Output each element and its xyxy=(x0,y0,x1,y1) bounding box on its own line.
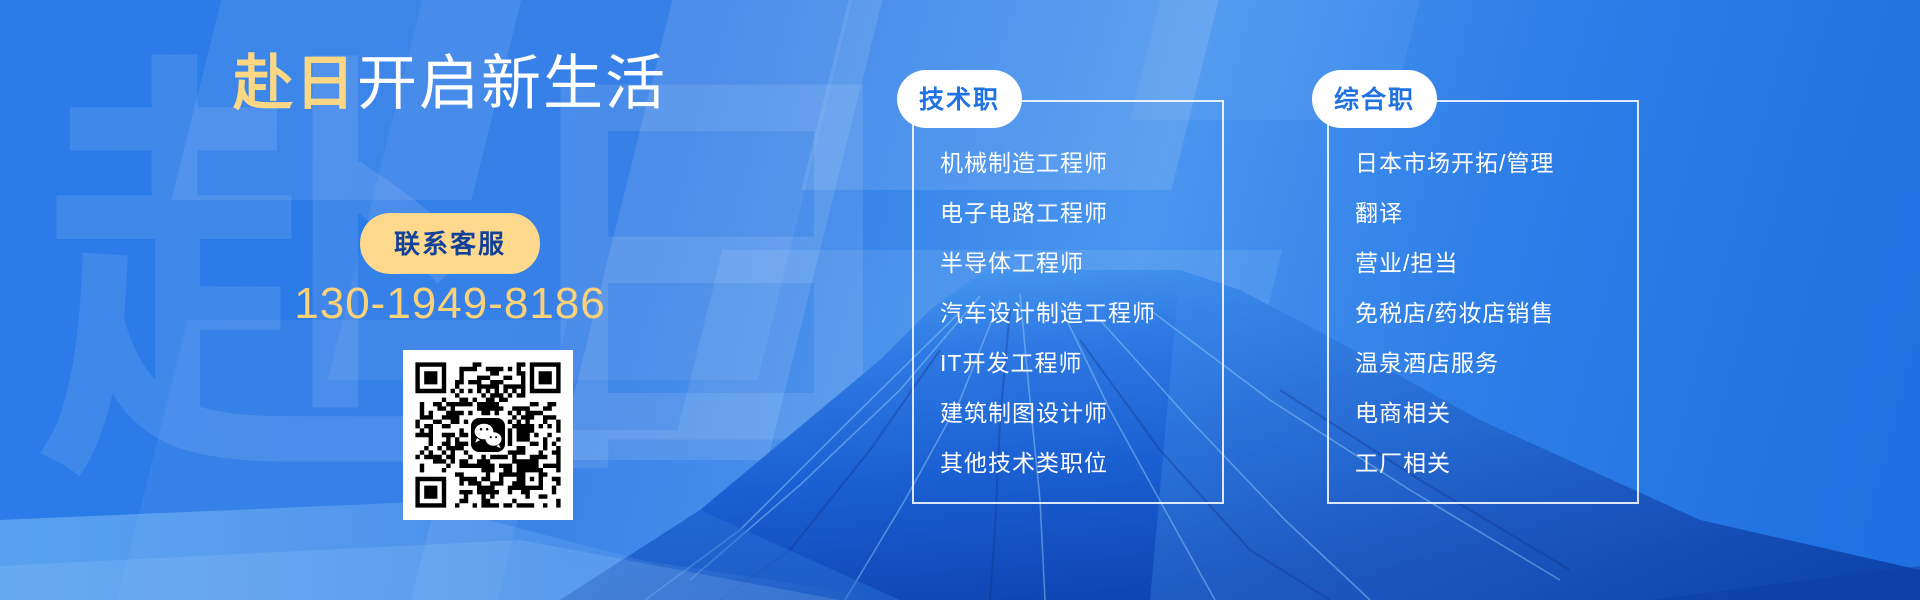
qr-code-icon xyxy=(403,350,573,520)
headline-rest: 开启新生活 xyxy=(357,50,667,117)
general-job-list: 日本市场开拓/管理 翻译 营业/担当 免税店/药妆店销售 温泉酒店服务 电商相关… xyxy=(1329,102,1637,488)
list-item[interactable]: 温泉酒店服务 xyxy=(1355,338,1637,388)
headline-strong: 赴日 xyxy=(233,50,357,117)
phone-number[interactable]: 130-1949-8186 xyxy=(120,279,780,329)
technical-job-list: 机械制造工程师 电子电路工程师 半导体工程师 汽车设计制造工程师 IT开发工程师… xyxy=(914,102,1222,488)
page-title: 赴日开启新生活 xyxy=(120,48,780,120)
list-item[interactable]: 建筑制图设计师 xyxy=(940,388,1222,438)
list-item[interactable]: IT开发工程师 xyxy=(940,338,1222,388)
promo-banner: 赴日 xyxy=(0,0,1920,600)
list-item[interactable]: 工厂相关 xyxy=(1355,438,1637,488)
list-item[interactable]: 免税店/药妆店销售 xyxy=(1355,288,1637,338)
contact-support-button[interactable]: 联系客服 xyxy=(360,213,540,274)
list-item[interactable]: 营业/担当 xyxy=(1355,238,1637,288)
list-item[interactable]: 半导体工程师 xyxy=(940,238,1222,288)
list-item[interactable]: 电子电路工程师 xyxy=(940,188,1222,238)
list-item[interactable]: 其他技术类职位 xyxy=(940,438,1222,488)
cta-wrapper: 联系客服 xyxy=(120,213,780,274)
list-item[interactable]: 电商相关 xyxy=(1355,388,1637,438)
list-item[interactable]: 机械制造工程师 xyxy=(940,138,1222,188)
panel-badge-technical: 技术职 xyxy=(897,70,1022,128)
list-item[interactable]: 汽车设计制造工程师 xyxy=(940,288,1222,338)
panel-general-jobs: 综合职 日本市场开拓/管理 翻译 营业/担当 免税店/药妆店销售 温泉酒店服务 … xyxy=(1327,100,1639,504)
wechat-qr-code[interactable] xyxy=(403,350,573,520)
panel-technical-jobs: 技术职 机械制造工程师 电子电路工程师 半导体工程师 汽车设计制造工程师 IT开… xyxy=(912,100,1224,504)
list-item[interactable]: 日本市场开拓/管理 xyxy=(1355,138,1637,188)
list-item[interactable]: 翻译 xyxy=(1355,188,1637,238)
panel-badge-general: 综合职 xyxy=(1312,70,1437,128)
